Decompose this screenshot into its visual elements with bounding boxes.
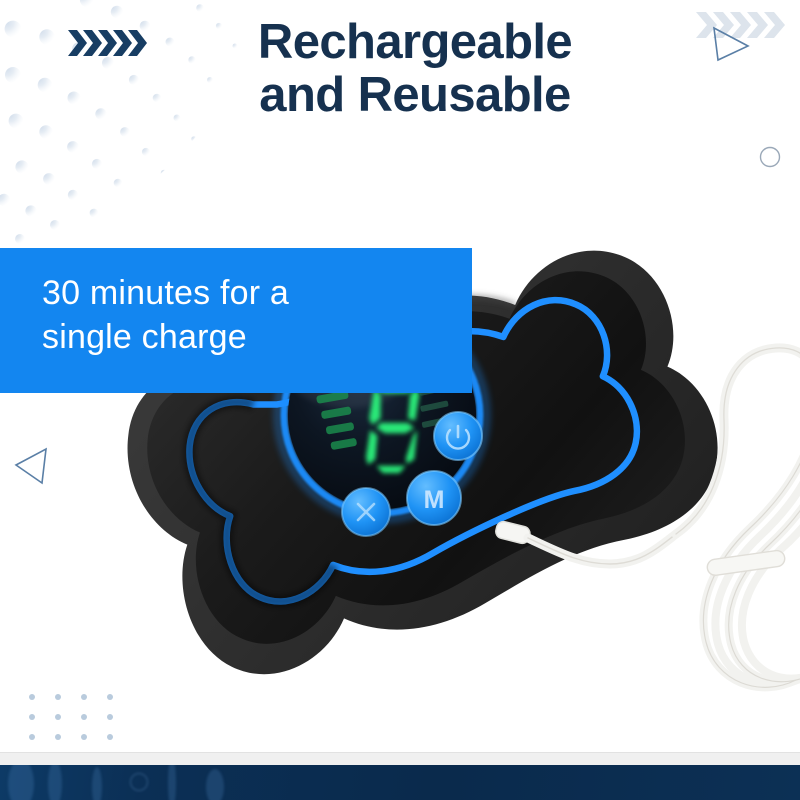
feature-banner-text: 30 minutes for a single charge [42, 272, 442, 359]
page-title: Rechargeable and Reusable [0, 16, 800, 122]
footer-band [0, 765, 800, 800]
product-feature-card: M [0, 0, 800, 800]
intensity-button [342, 488, 390, 536]
mode-button: M [407, 471, 461, 525]
footer-divider-strip [0, 752, 800, 766]
power-button [434, 412, 482, 460]
svg-text:M: M [424, 486, 445, 514]
triangle-left-outline-icon [12, 443, 56, 489]
product-photo-mini-massager: M [110, 150, 800, 730]
